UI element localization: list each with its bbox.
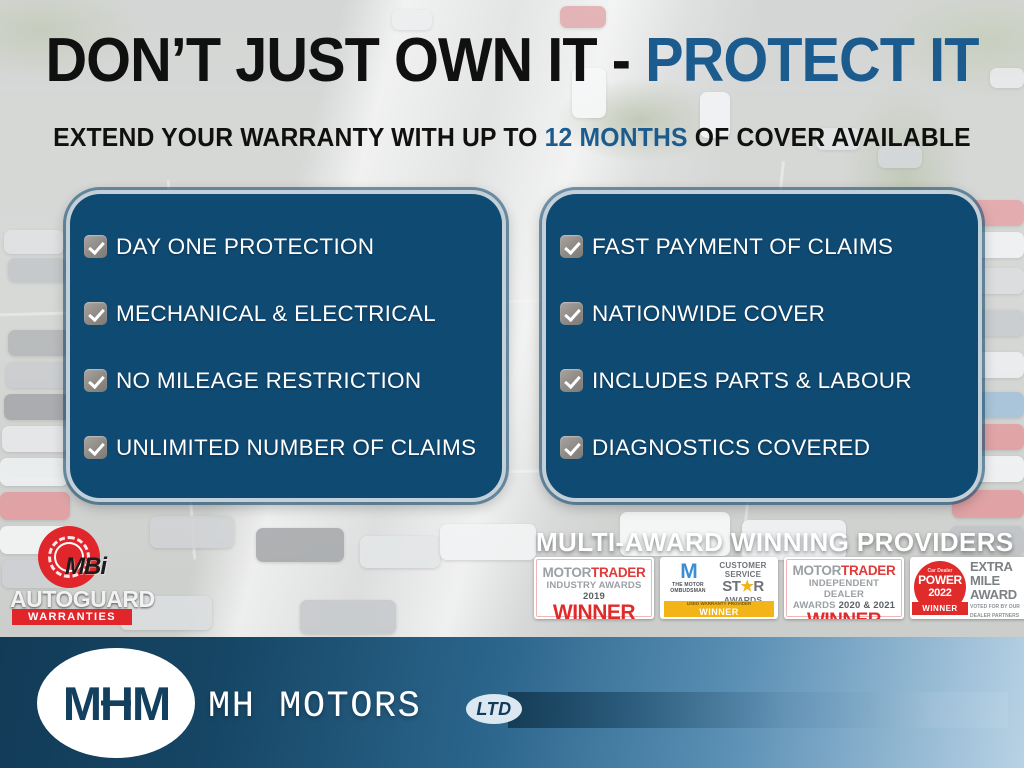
mhm-logo-text: MHM: [63, 676, 169, 731]
checkbox-checked-icon: [560, 302, 583, 325]
subtitle-highlight: 12 MONTHS: [545, 122, 688, 152]
checkbox-checked-icon: [84, 302, 107, 325]
awards-heading: MULTI-AWARD WINNING PROVIDERS: [536, 527, 1024, 558]
checkbox-checked-icon: [84, 235, 107, 258]
extra-mile-note1: VOTED FOR BY OUR: [970, 604, 1024, 611]
extra-mile-line1: EXTRA: [970, 560, 1024, 574]
cdp-title: POWER: [914, 574, 966, 587]
feature-box-left: DAY ONE PROTECTION MECHANICAL & ELECTRIC…: [66, 190, 506, 502]
feature-item: DIAGNOSTICS COVERED: [560, 435, 970, 460]
badge-content: MOTORTRADER INDEPENDENT DEALER AWARDS 20…: [786, 559, 902, 617]
award-badge-car-dealer-power-extra-mile: Car Dealer POWER 2022 WINNER EXTRA MILE …: [910, 557, 1024, 619]
page-subtitle: EXTEND YOUR WARRANTY WITH UP TO 12 MONTH…: [26, 122, 999, 153]
feature-label: UNLIMITED NUMBER OF CLAIMS: [116, 435, 476, 461]
subtitle-before: EXTEND YOUR WARRANTY WITH UP TO: [53, 122, 544, 152]
feature-label: DAY ONE PROTECTION: [116, 234, 374, 260]
mbi-tagline: WARRANTIES: [12, 609, 132, 625]
award-badge-customer-service-star: M THE MOTOR OMBUDSMAN CUSTOMER SERVICE S…: [660, 557, 778, 619]
headline-part-1: DON’T JUST OWN IT -: [45, 26, 645, 95]
feature-label: FAST PAYMENT OF CLAIMS: [592, 234, 893, 260]
star-icon: ★: [740, 578, 753, 595]
ribbon-result: WINNER: [664, 607, 774, 617]
motor-ombudsman-block: M THE MOTOR OMBUDSMAN: [664, 562, 712, 594]
feature-box-right: FAST PAYMENT OF CLAIMS NATIONWIDE COVER …: [542, 190, 982, 502]
feature-label: INCLUDES PARTS & LABOUR: [592, 368, 912, 394]
footer-stripe: [508, 692, 1008, 728]
award-badge-motortrader-2019: MOTORTRADER INDUSTRY AWARDS 2019 WINNER: [534, 557, 654, 619]
checkbox-checked-icon: [560, 369, 583, 392]
ltd-badge: LTD: [466, 694, 522, 724]
feature-label: NATIONWIDE COVER: [592, 301, 825, 327]
motor-ombudsman-line2: OMBUDSMAN: [664, 588, 712, 594]
cs-line1: CUSTOMER: [714, 561, 772, 570]
feature-label: MECHANICAL & ELECTRICAL: [116, 301, 436, 327]
checkbox-checked-icon: [84, 369, 107, 392]
company-name: MH MOTORS: [208, 686, 421, 728]
checkbox-checked-icon: [560, 235, 583, 258]
feature-item: NO MILEAGE RESTRICTION: [84, 368, 494, 393]
checkbox-checked-icon: [84, 436, 107, 459]
checkbox-checked-icon: [560, 436, 583, 459]
subtitle-after: OF COVER AVAILABLE: [688, 122, 971, 152]
feature-item: NATIONWIDE COVER: [560, 301, 970, 326]
feature-label: DIAGNOSTICS COVERED: [592, 435, 870, 461]
extra-mile-line2: MILE: [970, 574, 1024, 588]
badge-brand-a: MOTOR: [543, 565, 592, 580]
feature-list-right: FAST PAYMENT OF CLAIMS NATIONWIDE COVER …: [560, 234, 970, 460]
feature-item: FAST PAYMENT OF CLAIMS: [560, 234, 970, 259]
extra-mile-note2: DEALER PARTNERS: [970, 613, 1024, 620]
badge-brand: MOTORTRADER: [790, 563, 898, 578]
badge-result: WINNER: [790, 611, 898, 619]
feature-item: UNLIMITED NUMBER OF CLAIMS: [84, 435, 494, 460]
cs-star-prefix: ST: [722, 578, 740, 595]
mbi-autoguard-logo: MBi AUTOGUARD WARRANTIES: [10, 526, 134, 624]
award-badge-motortrader-2020-2021: MOTORTRADER INDEPENDENT DEALER AWARDS 20…: [784, 557, 904, 619]
mbi-wordmark: MBi: [65, 553, 106, 581]
footer-bar: MHM MH MOTORS LTD 35 YEARS IN BUSINESS: [0, 637, 1024, 768]
badge-brand-a: MOTOR: [793, 563, 842, 578]
badge-brand: MOTORTRADER: [540, 565, 648, 580]
cdp-year: 2022: [914, 587, 966, 599]
badge-content: MOTORTRADER INDUSTRY AWARDS 2019 WINNER: [536, 559, 652, 617]
feature-item: DAY ONE PROTECTION: [84, 234, 494, 259]
customer-service-block: CUSTOMER SERVICE ST★R AWARDS: [714, 561, 772, 605]
awards-badge-row: MOTORTRADER INDUSTRY AWARDS 2019 WINNER …: [534, 557, 1024, 621]
feature-label: NO MILEAGE RESTRICTION: [116, 368, 421, 394]
badge-subtitle: INDEPENDENT DEALER: [790, 578, 898, 600]
cs-star-line: ST★R: [714, 579, 772, 595]
feature-item: INCLUDES PARTS & LABOUR: [560, 368, 970, 393]
badge-brand-b: TRADER: [591, 565, 645, 580]
feature-list-left: DAY ONE PROTECTION MECHANICAL & ELECTRIC…: [84, 234, 494, 460]
extra-mile-line3: AWARD: [970, 588, 1024, 602]
badge-result: WINNER: [540, 602, 648, 619]
badge-subtitle-text: INDUSTRY AWARDS: [546, 580, 641, 591]
cdp-ribbon-result: WINNER: [912, 602, 968, 615]
mhm-logo: MHM: [37, 648, 195, 758]
cs-star-suffix: R: [753, 578, 763, 595]
feature-item: MECHANICAL & ELECTRICAL: [84, 301, 494, 326]
badge-ribbon: USED WARRANTY PROVIDER WINNER: [664, 601, 774, 617]
headline-part-2: PROTECT IT: [645, 26, 978, 95]
extra-mile-block: EXTRA MILE AWARD VOTED FOR BY OUR DEALER…: [970, 560, 1024, 619]
motor-ombudsman-logo-icon: M: [664, 562, 712, 582]
badge-brand-b: TRADER: [841, 563, 895, 578]
page-title: DON’T JUST OWN IT - PROTECT IT: [36, 24, 988, 98]
badge-subtitle: INDUSTRY AWARDS 2019: [540, 580, 648, 602]
banner-stage: DON’T JUST OWN IT - PROTECT IT EXTEND YO…: [0, 0, 1024, 768]
